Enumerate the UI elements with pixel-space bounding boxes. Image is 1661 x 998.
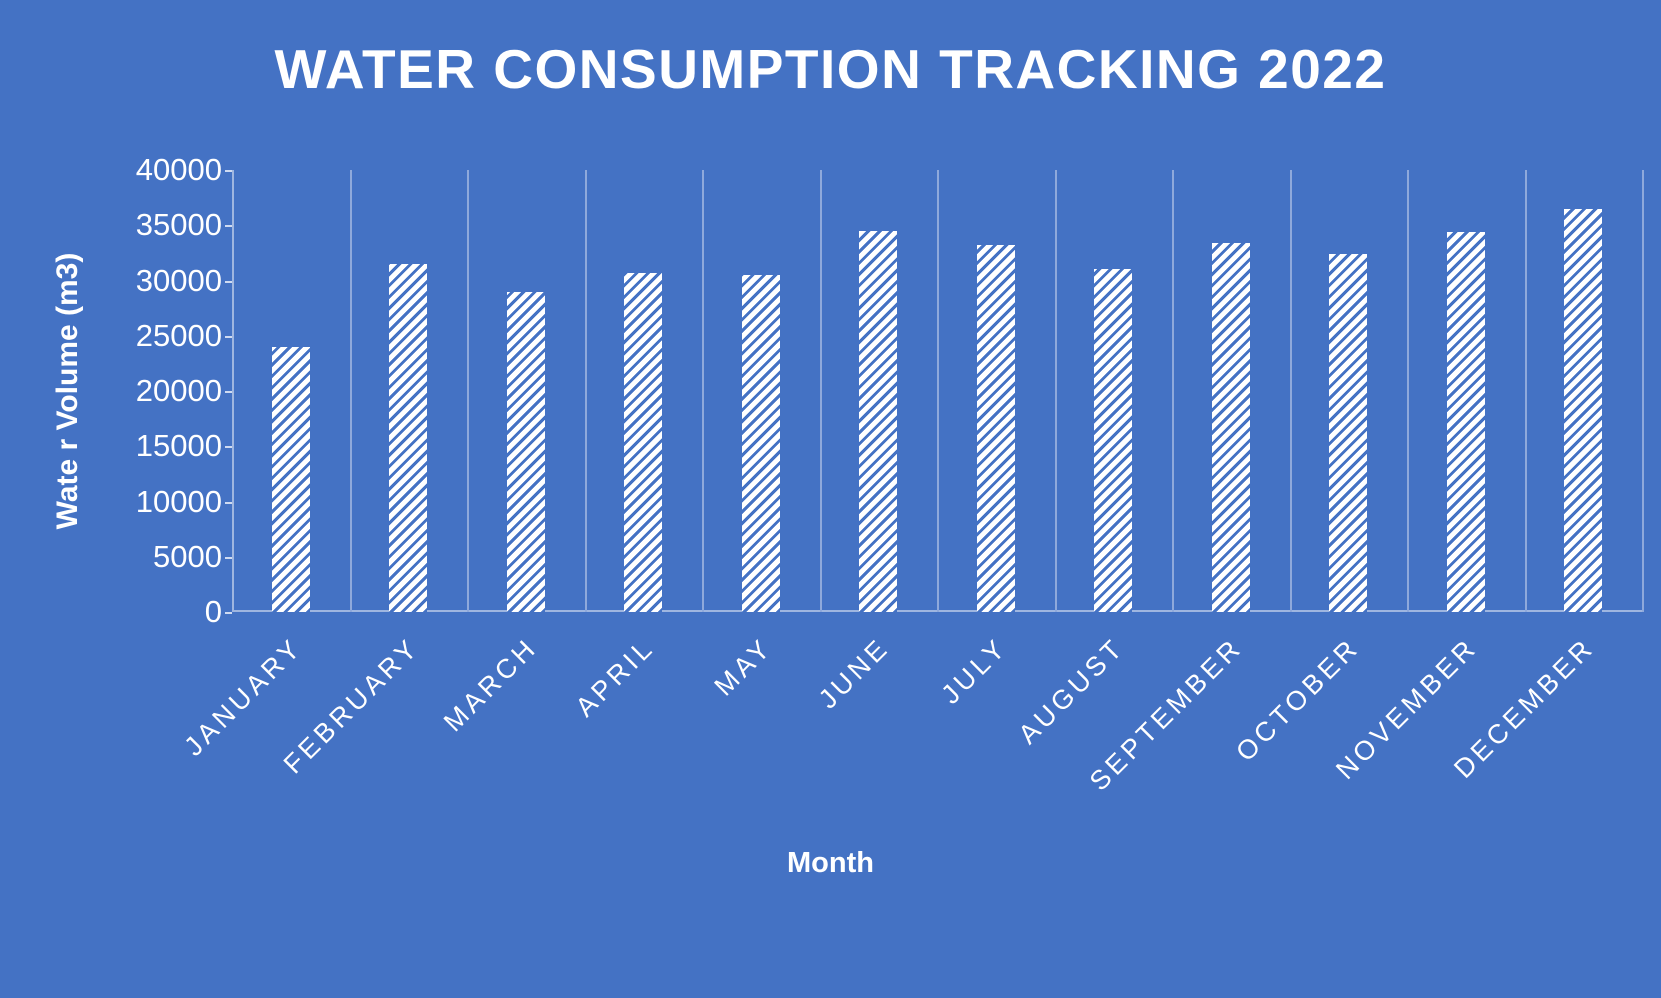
y-axis-tickmark xyxy=(225,336,232,338)
x-axis-tick-label-text: JANUARY xyxy=(178,632,308,762)
y-axis-tick-label: 15000 xyxy=(104,430,222,461)
y-axis-tickmark xyxy=(225,612,232,614)
y-axis-tickmark xyxy=(225,446,232,448)
x-axis-tick-labels: JANUARYFEBRUARYMARCHAPRILMAYJUNEJULYAUGU… xyxy=(232,614,1642,824)
y-axis-tick-label: 40000 xyxy=(104,154,222,185)
category-gridline xyxy=(1642,170,1644,612)
bar[interactable] xyxy=(977,245,1015,612)
y-axis-tick-label: 30000 xyxy=(104,265,222,296)
y-axis-tick-label: 10000 xyxy=(104,486,222,517)
bar-slot xyxy=(702,170,820,612)
bar[interactable] xyxy=(624,273,662,612)
bar-slot xyxy=(232,170,350,612)
y-axis-tick-label: 35000 xyxy=(104,209,222,240)
x-axis-tick-label-text: JULY xyxy=(935,632,1013,710)
x-label-slot: JUNE xyxy=(820,614,938,824)
y-axis-tick-label: 25000 xyxy=(104,320,222,351)
chart-title: WATER CONSUMPTION TRACKING 2022 xyxy=(0,36,1661,102)
y-axis-tick-label: 5000 xyxy=(104,541,222,572)
y-axis-tickmark xyxy=(225,225,232,227)
bar-slot xyxy=(820,170,938,612)
y-axis-tick-label: 0 xyxy=(104,596,222,627)
x-label-slot: MARCH xyxy=(467,614,585,824)
bar-slot xyxy=(585,170,703,612)
x-label-slot: DECEMBER xyxy=(1525,614,1643,824)
bar[interactable] xyxy=(859,231,897,612)
y-axis-tickmark xyxy=(225,391,232,393)
bar[interactable] xyxy=(742,275,780,612)
bar-slot xyxy=(1172,170,1290,612)
water-consumption-bar-chart: WATER CONSUMPTION TRACKING 2022 Wate r V… xyxy=(0,0,1661,998)
y-axis-title: Wate r Volume (m3) xyxy=(45,170,91,612)
y-axis-tickmark xyxy=(225,170,232,172)
bar[interactable] xyxy=(272,347,310,612)
y-axis-tick-labels: 0500010000150002000025000300003500040000 xyxy=(104,170,222,612)
y-axis-tickmark xyxy=(225,502,232,504)
bar-slot xyxy=(1055,170,1173,612)
x-axis-tick-label-text: MAY xyxy=(708,632,778,702)
x-label-slot: MAY xyxy=(702,614,820,824)
y-axis-tick-label: 20000 xyxy=(104,375,222,406)
bar-slot xyxy=(937,170,1055,612)
x-label-slot: APRIL xyxy=(585,614,703,824)
x-axis-title: Month xyxy=(0,845,1661,881)
x-axis-tick-label-text: JUNE xyxy=(813,632,895,714)
y-axis-tickmark xyxy=(225,281,232,283)
y-axis-tickmark xyxy=(225,557,232,559)
bar[interactable] xyxy=(1094,269,1132,612)
